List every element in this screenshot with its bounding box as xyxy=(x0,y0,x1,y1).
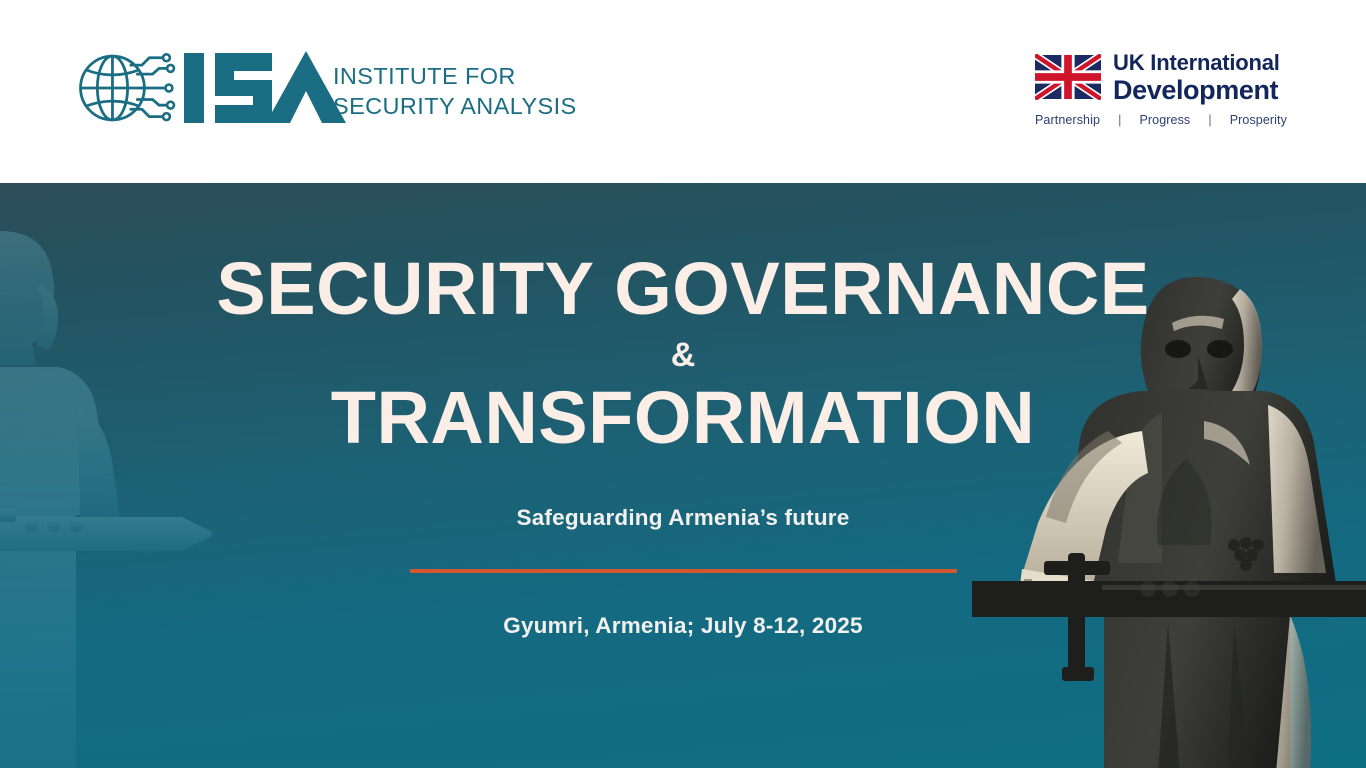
uk-value-progress: Progress xyxy=(1139,113,1190,127)
uk-logo-top-row: UK International Development xyxy=(1035,52,1285,104)
banner-content: SECURITY GOVERNANCE & TRANSFORMATION Saf… xyxy=(0,183,1366,768)
uk-value-separator-1: | xyxy=(1118,113,1121,127)
uk-value-separator-2: | xyxy=(1208,113,1211,127)
globe-circuit-icon xyxy=(74,47,182,129)
uk-logo-line1: UK International xyxy=(1113,52,1280,74)
isa-logo xyxy=(74,47,346,129)
slide-header: INSTITUTE FOR SECURITY ANALYSIS xyxy=(0,0,1366,183)
uk-logo-text: UK International Development xyxy=(1113,52,1280,104)
accent-divider-rule xyxy=(410,569,957,573)
isa-tagline: INSTITUTE FOR SECURITY ANALYSIS xyxy=(333,61,577,121)
slide-title-line-1: SECURITY GOVERNANCE xyxy=(216,253,1149,324)
uk-logo-values-row: Partnership | Progress | Prosperity xyxy=(1035,113,1287,127)
union-jack-flag-icon xyxy=(1035,54,1101,100)
presentation-slide: INSTITUTE FOR SECURITY ANALYSIS xyxy=(0,0,1366,768)
slide-title-ampersand: & xyxy=(671,338,696,372)
uk-international-development-logo: UK International Development Partnership… xyxy=(1035,52,1285,127)
isa-tagline-line1: INSTITUTE FOR xyxy=(333,61,577,91)
uk-value-prosperity: Prosperity xyxy=(1230,113,1287,127)
uk-logo-line2: Development xyxy=(1113,77,1280,104)
isa-tagline-line2: SECURITY ANALYSIS xyxy=(333,91,577,121)
uk-value-partnership: Partnership xyxy=(1035,113,1100,127)
slide-title-line-2: TRANSFORMATION xyxy=(331,382,1035,453)
slide-date-location: Gyumri, Armenia; July 8-12, 2025 xyxy=(503,613,862,639)
isa-wordmark xyxy=(184,47,346,129)
slide-subtitle: Safeguarding Armenia’s future xyxy=(517,505,850,531)
